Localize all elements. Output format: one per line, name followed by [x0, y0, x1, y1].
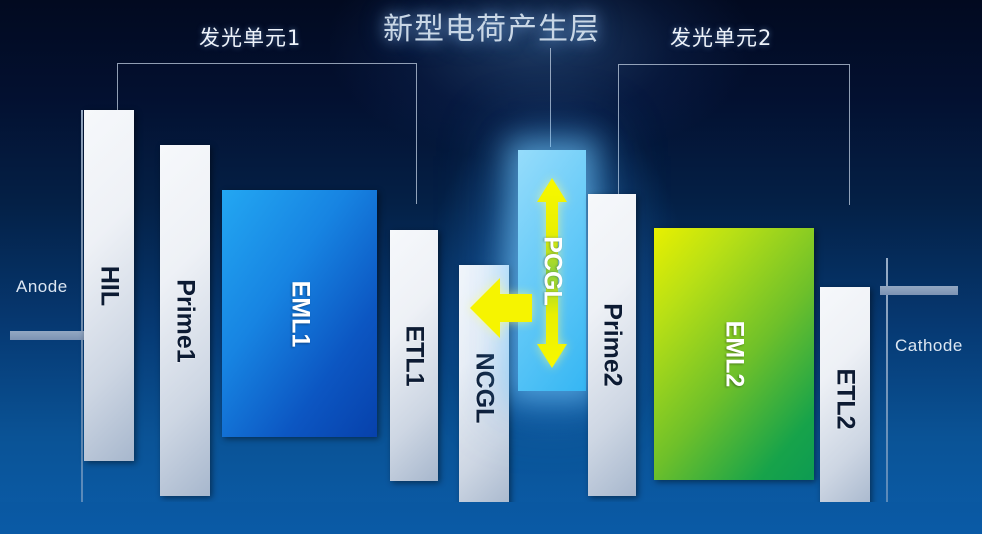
anode-contact-bar — [10, 331, 88, 340]
cathode-line — [886, 258, 888, 510]
layer-label-eml1: EML1 — [285, 280, 314, 347]
page-title: 新型电荷产生层 — [383, 4, 600, 48]
layer-bar-eml2[interactable]: EML2 — [654, 228, 814, 480]
layer-label-prime2: Prime2 — [598, 303, 627, 386]
layer-label-pcgl: PCGL — [538, 236, 567, 305]
layer-label-etl2: ETL2 — [831, 368, 860, 429]
center-pointer-line — [550, 48, 551, 147]
layer-bar-prime1[interactable]: Prime1 — [160, 145, 210, 496]
group-label-unit1: 发光单元1 — [199, 22, 301, 52]
bracket-unit2 — [618, 64, 850, 205]
arrow-left-icon — [470, 276, 532, 340]
layer-bar-etl2[interactable]: ETL2 — [820, 287, 870, 510]
cathode-contact-bar — [880, 286, 958, 295]
anode-line — [81, 110, 83, 510]
layer-bar-hil[interactable]: HIL — [84, 110, 134, 461]
layer-bar-prime2[interactable]: Prime2 — [588, 194, 636, 496]
layer-label-prime1: Prime1 — [171, 279, 200, 362]
layer-label-etl1: ETL1 — [400, 325, 429, 386]
layer-bar-eml1[interactable]: EML1 — [222, 190, 377, 437]
bottom-band — [0, 502, 982, 534]
anode-label: Anode — [16, 277, 68, 297]
layer-label-ncgl: NCGL — [470, 352, 499, 423]
diagram-canvas: 新型电荷产生层 发光单元1 发光单元2 Anode Cathode HIL Pr… — [0, 0, 982, 534]
layer-bar-pcgl[interactable]: PCGL — [518, 150, 586, 391]
group-label-unit2: 发光单元2 — [670, 22, 772, 52]
layer-label-hil: HIL — [95, 265, 124, 305]
layer-bar-etl1[interactable]: ETL1 — [390, 230, 438, 481]
cathode-label: Cathode — [895, 336, 963, 356]
layer-label-eml2: EML2 — [720, 321, 749, 388]
